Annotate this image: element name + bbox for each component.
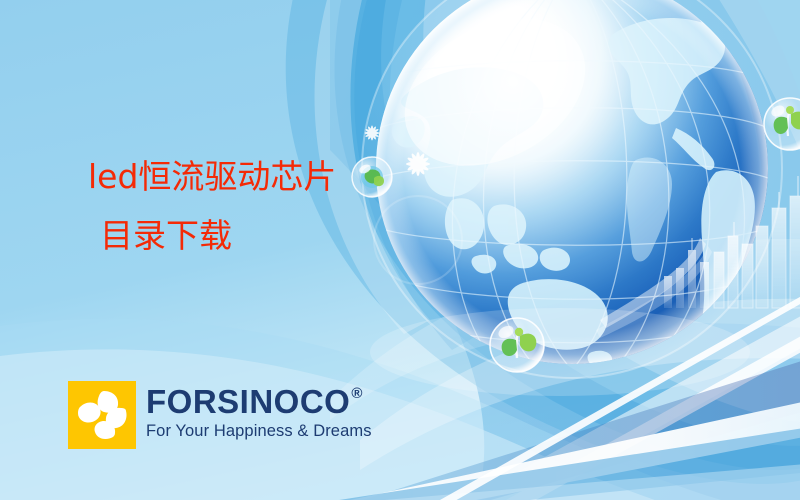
- company-logo: FORSINOCO ® For Your Happiness & Dreams: [68, 381, 372, 449]
- four-petal-pinwheel-icon: [68, 381, 136, 449]
- bubble-sprout-icon: [490, 318, 544, 372]
- logo-mark: [68, 381, 136, 449]
- logo-company-name-text: FORSINOCO: [146, 385, 350, 418]
- registered-trademark-icon: ®: [351, 386, 363, 401]
- logo-tagline: For Your Happiness & Dreams: [146, 422, 372, 441]
- logo-company-name: FORSINOCO ®: [146, 385, 363, 418]
- bubble-globe-icon: [352, 157, 392, 197]
- promo-banner: led恒流驱动芯片 目录下载 FORSINOCO: [0, 0, 800, 500]
- logo-wordmark: FORSINOCO ® For Your Happiness & Dreams: [146, 381, 372, 441]
